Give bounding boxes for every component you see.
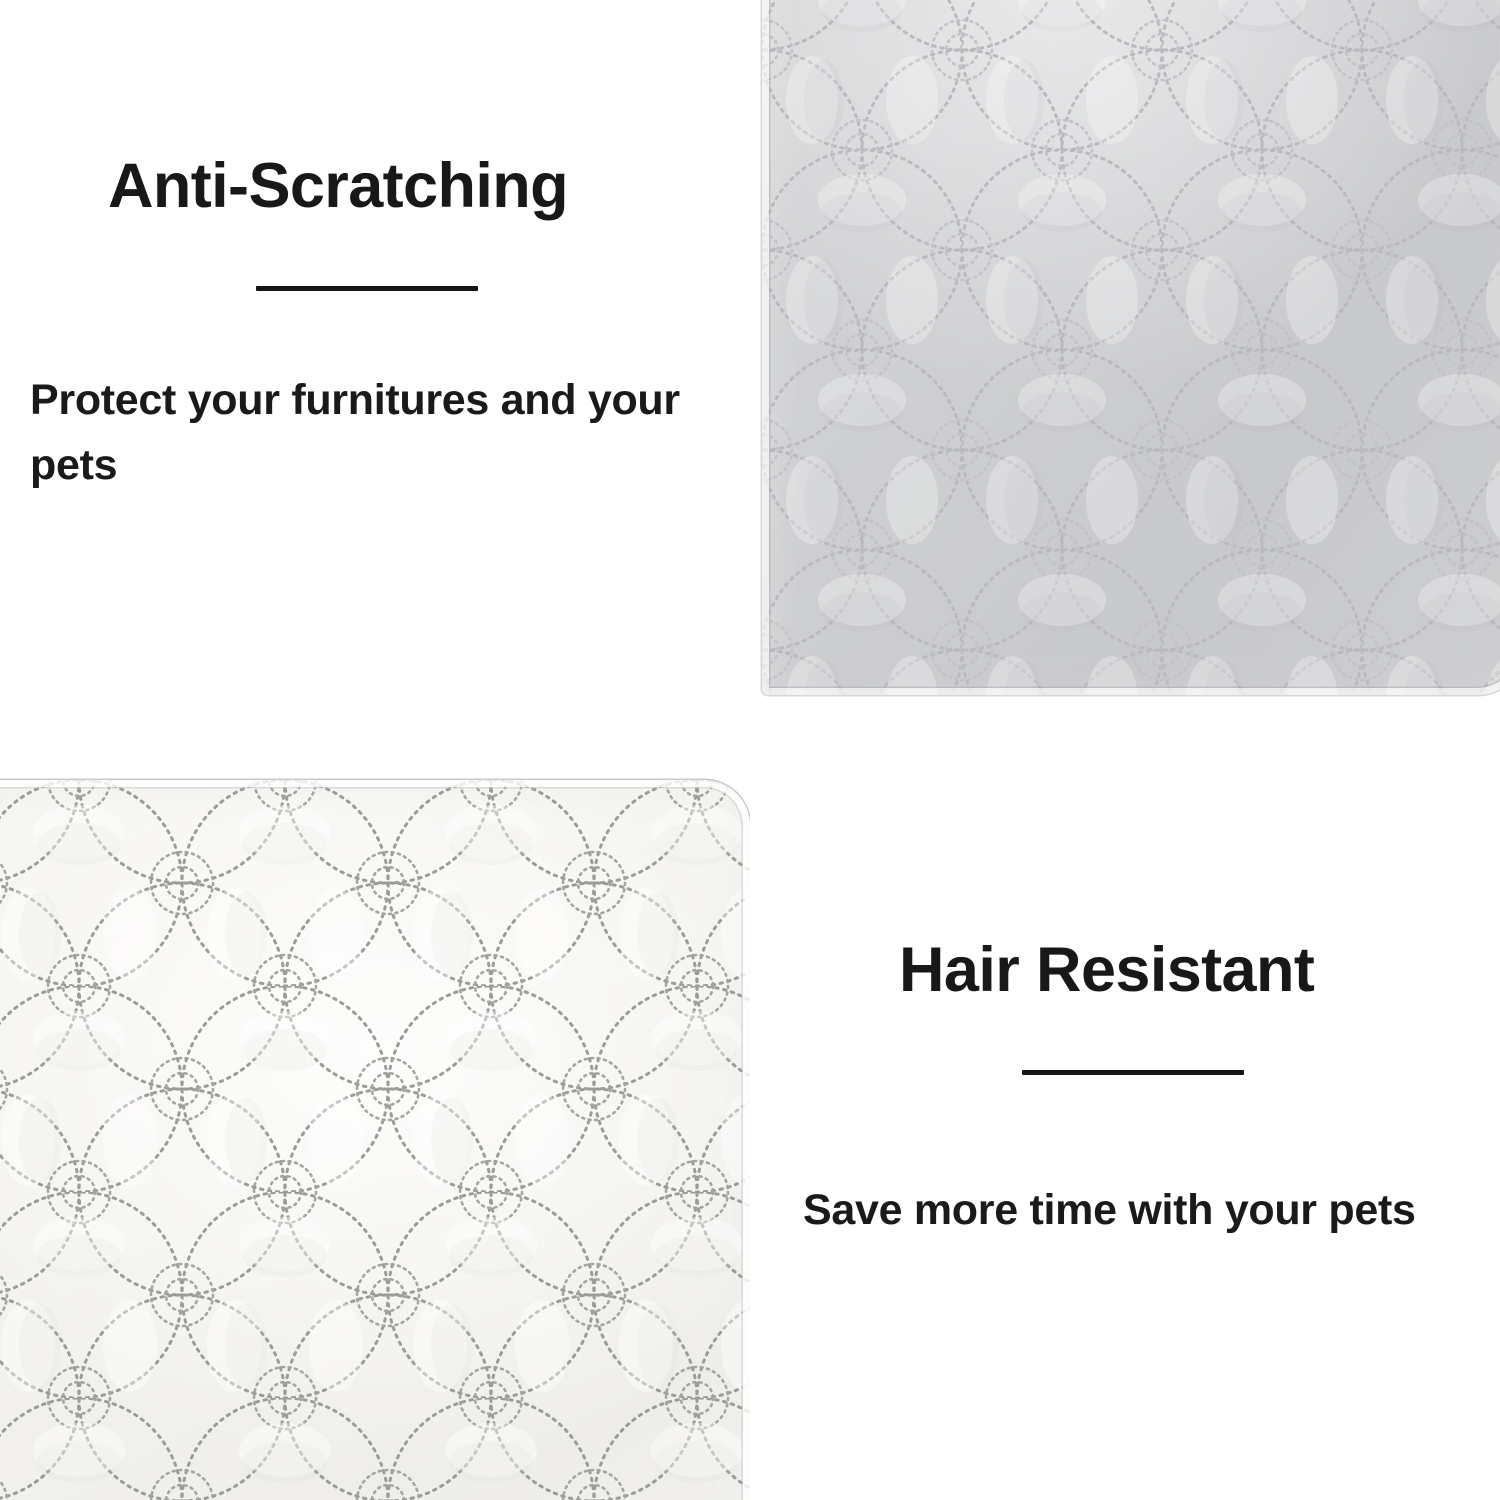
quilt-stitch-pattern-gray bbox=[762, 0, 1500, 695]
heading-divider-anti-scratching bbox=[256, 286, 478, 291]
feature-photo-hair-resistant bbox=[0, 772, 750, 1500]
quilted-mat-gray bbox=[762, 0, 1500, 695]
feature-heading-hair-resistant: Hair Resistant bbox=[899, 937, 1314, 1003]
feature-heading-anti-scratching: Anti-Scratching bbox=[108, 153, 568, 219]
feature-subtext-anti-scratching: Protect your furnitures and your pets bbox=[30, 368, 730, 499]
infographic-canvas: Anti-Scratching Protect your furnitures … bbox=[0, 0, 1500, 1500]
feature-subtext-hair-resistant: Save more time with your pets bbox=[803, 1178, 1473, 1243]
quilt-stitch-pattern-cream bbox=[0, 780, 750, 1500]
quilted-mat-cream bbox=[0, 780, 750, 1500]
feature-photo-anti-scratching bbox=[752, 0, 1500, 710]
heading-divider-hair-resistant bbox=[1022, 1070, 1244, 1075]
